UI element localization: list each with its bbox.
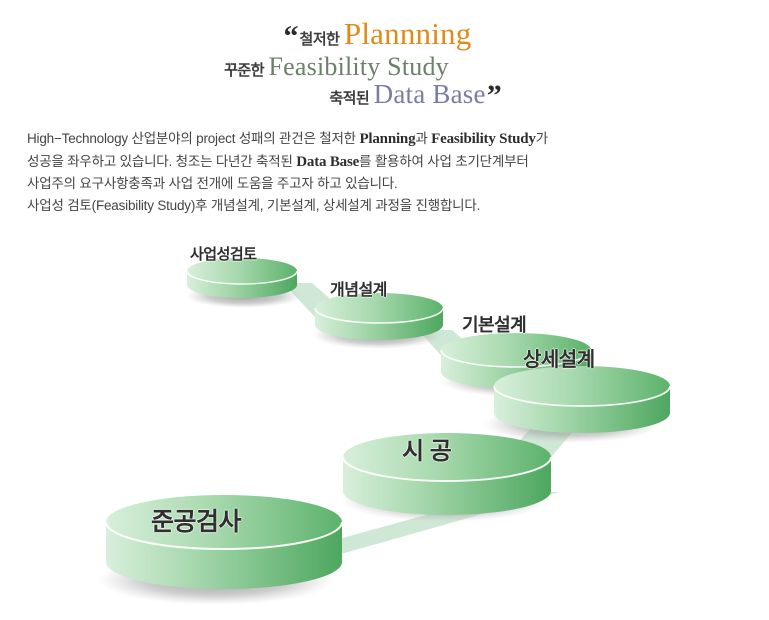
stage-completion-inspection[interactable]: 준공검사 — [103, 495, 345, 601]
cylinder-6 — [103, 495, 345, 601]
stage-concept-design[interactable]: 개념설계 — [312, 293, 446, 347]
process-flow-diagram: 사업성검토 개념설계 기본설계 상세설계 — [0, 0, 769, 620]
stage-detail-design[interactable]: 상세설계 — [491, 366, 673, 442]
cylinder-4 — [491, 366, 673, 442]
stage-construction[interactable]: 시 공 — [340, 433, 554, 525]
stage-feasibility-review[interactable]: 사업성검토 — [184, 258, 300, 304]
cylinder-5 — [340, 433, 554, 525]
cylinder-1 — [184, 258, 300, 304]
cylinder-2 — [312, 293, 446, 347]
